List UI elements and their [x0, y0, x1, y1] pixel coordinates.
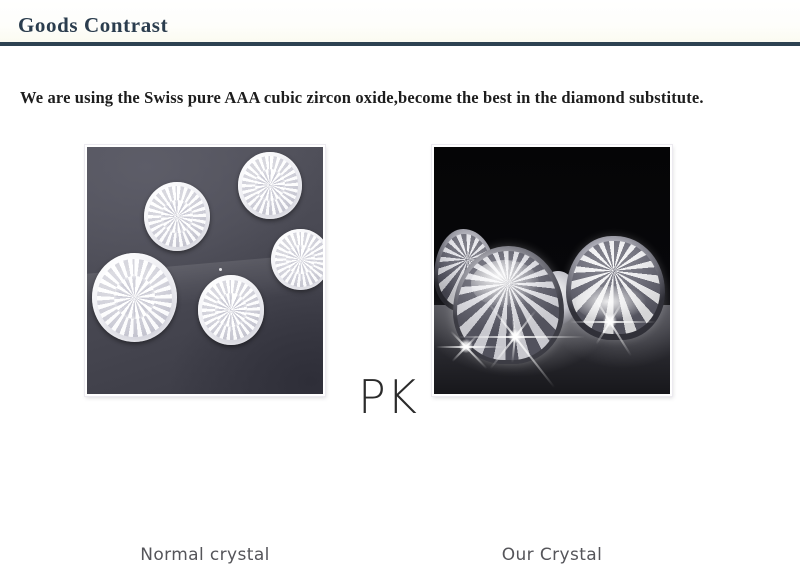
surface-speck	[219, 268, 222, 271]
our-crystal-caption: Our Crystal	[432, 545, 672, 565]
page-title: Goods Contrast	[18, 13, 168, 38]
header-divider	[0, 42, 800, 46]
normal-crystal-photo-frame	[85, 145, 325, 396]
our-crystal-photo-frame	[432, 145, 672, 396]
our-crystal-photo	[434, 147, 670, 394]
crystal-gem	[566, 236, 665, 340]
slide-header: Goods Contrast	[0, 0, 800, 46]
crystal-gem	[144, 182, 210, 251]
normal-crystal-photo	[87, 147, 323, 394]
crystal-gem	[198, 275, 264, 344]
comparison-section: PK Normal crystal Our Crystal	[0, 140, 800, 440]
normal-crystal-caption: Normal crystal	[85, 545, 325, 565]
crystal-gem	[453, 246, 564, 365]
intro-paragraph: We are using the Swiss pure AAA cubic zi…	[20, 88, 780, 108]
crystal-gem	[271, 229, 323, 291]
crystal-gem	[238, 152, 302, 219]
versus-label: PK	[352, 374, 424, 420]
crystal-gem	[92, 253, 177, 342]
